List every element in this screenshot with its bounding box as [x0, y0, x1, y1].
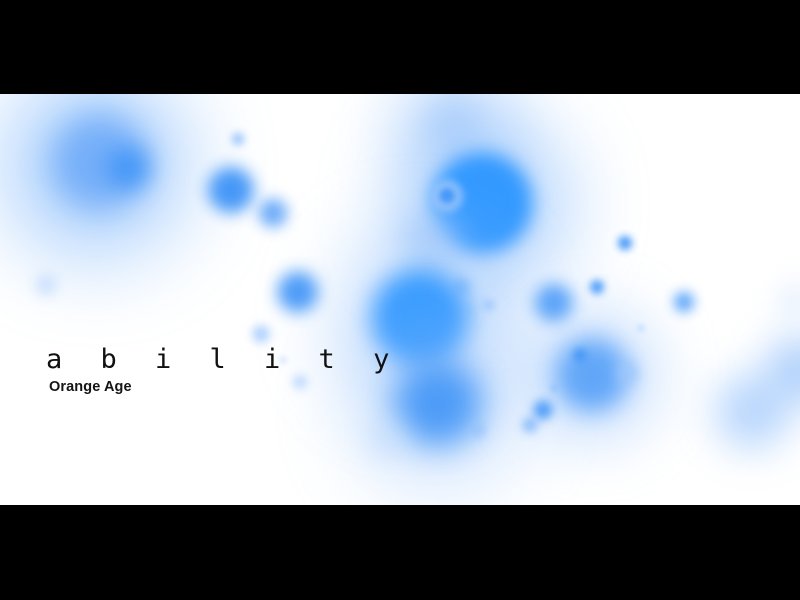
orb-r-big-core — [556, 339, 628, 411]
orb-r-dot-top — [618, 236, 632, 250]
orb-top-faint-ring — [424, 94, 480, 150]
orb-mini-c — [280, 357, 287, 364]
subtitle: Orange Age — [49, 380, 400, 395]
orb-center-ring — [431, 180, 464, 213]
orb-r-low-a — [534, 401, 553, 420]
orb-r-low-b — [523, 418, 537, 432]
orb-up1-mid — [208, 167, 254, 213]
bokeh-image-plate: a b i l i t y Orange Age — [0, 94, 800, 505]
orb-center-ringdot — [440, 189, 455, 204]
orb-edge-corner — [770, 340, 800, 400]
orb-big-low-core — [395, 360, 481, 446]
orb-r-big-halo — [529, 312, 655, 438]
orb-top-faint-halo — [391, 94, 519, 192]
orb-center-dot2 — [484, 300, 495, 311]
orb-left-large-halo — [0, 94, 190, 260]
orb-low-soft — [367, 422, 403, 458]
orb-up1-dot — [232, 133, 245, 146]
orb-r-micro — [638, 325, 644, 331]
orb-r-big-tiny — [551, 385, 558, 392]
orb-center-core — [432, 153, 533, 254]
letterbox-bar-top — [0, 0, 800, 94]
page-title: a b i l i t y — [46, 346, 400, 373]
orb-r-dot-mid — [590, 280, 604, 294]
orb-r-dot-far — [674, 292, 694, 312]
orb-center-dot — [454, 278, 470, 294]
orb-r-big-side — [616, 362, 638, 384]
orb-edge-topright — [780, 285, 800, 315]
orb-big-mid-halo — [337, 235, 505, 403]
orb-up1-small — [259, 199, 288, 228]
orb-big-mid-core — [372, 270, 468, 366]
orb-left-core — [53, 115, 148, 210]
title-card-screen: a b i l i t y Orange Age — [0, 0, 800, 600]
orb-center-dot3 — [466, 306, 474, 314]
orb-left-tiny — [36, 275, 56, 295]
orb-low-dot — [471, 423, 485, 437]
orb-big-low-halo — [357, 324, 519, 486]
title-block: a b i l i t y Orange Age — [46, 346, 400, 395]
orb-r-round — [535, 284, 573, 322]
orb-r-big-dot — [574, 349, 587, 362]
orb-up1-lower — [278, 272, 319, 313]
orb-center-halo — [394, 116, 572, 294]
letterbox-bar-bottom — [0, 505, 800, 600]
orb-mini-a — [253, 326, 270, 343]
orb-mini-b — [294, 376, 307, 389]
orb-edge-pale — [715, 375, 789, 449]
orb-left-bright — [107, 147, 149, 189]
orb-center-soft — [403, 210, 459, 266]
